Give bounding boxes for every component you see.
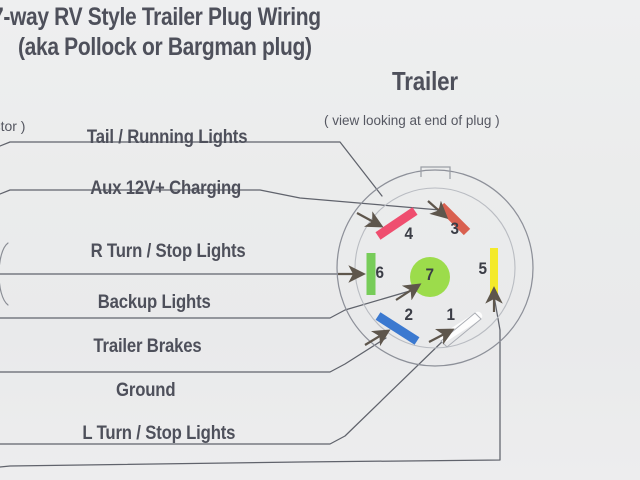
plug-key-notch [421,167,450,179]
wire-label-l-turn-stop-lights: L Turn / Stop Lights [82,423,235,445]
pin-number-6: 6 [375,263,384,283]
vehicle-connector-note: nector ) [0,118,25,134]
plug-diagram-layer [0,0,640,480]
arrow-to-pin-7 [396,285,419,300]
wiring-diagram-page: 7-way RV Style Trailer Plug Wiring (aka … [0,0,640,480]
pin-number-4: 4 [404,224,413,244]
arrow-to-pin-4 [357,213,381,226]
title-line-2: (aka Pollock or Bargman plug) [18,32,391,62]
pin-number-1: 1 [446,305,455,325]
wire-label-ground: Ground [116,380,175,402]
diagram-title: 7-way RV Style Trailer Plug Wiring (aka … [0,2,462,62]
pin-number-7: 7 [425,265,434,285]
arrow-to-pin-2 [365,331,388,345]
pin-number-2: 2 [404,305,413,325]
wire-label-trailer-brakes: Trailer Brakes [93,336,201,358]
wire-label-aux-charging: Aux 12V+ Charging [90,178,241,200]
pin-number-5: 5 [478,259,487,279]
wire-label-r-turn-stop-lights: R Turn / Stop Lights [91,241,246,263]
wire-label-backup-lights: Backup Lights [98,292,211,314]
trailer-heading: Trailer [392,66,458,97]
trailer-view-note: ( view looking at end of plug ) [324,113,500,128]
wire-label-tail-running-lights: Tail / Running Lights [87,127,247,149]
pin-number-3: 3 [450,219,459,239]
title-line-1: 7-way RV Style Trailer Plug Wiring [0,2,387,32]
